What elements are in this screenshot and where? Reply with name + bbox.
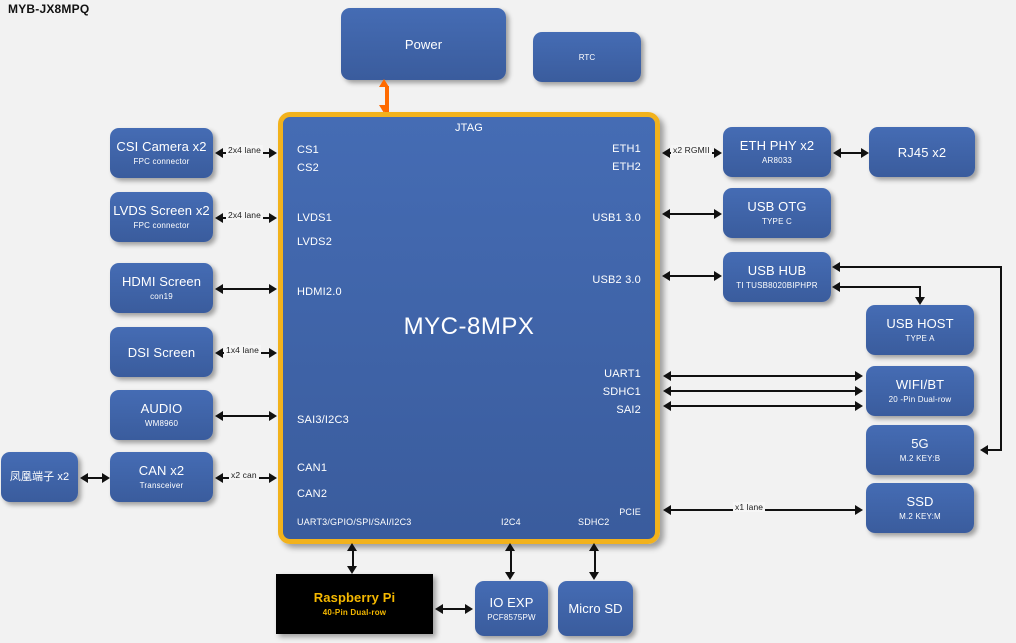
node-rtc-title: RTC (579, 50, 596, 65)
soc-myc-8mpx[interactable]: JTAG CS1 CS2 LVDS1 LVDS2 HDMI2.0 SAI3/I2… (278, 112, 660, 544)
link-usbhub-5g-v (1000, 266, 1002, 451)
link-soc-rpi-arrow-up (347, 543, 357, 551)
link-audio-soc-arrow-left (215, 411, 223, 421)
node-usb-otg-subtitle: TYPE C (762, 216, 792, 227)
node-usb-otg[interactable]: USB OTG TYPE C (723, 188, 831, 238)
link-dsi-soc-arrow-right (269, 348, 277, 358)
node-raspberry-pi-subtitle: 40-Pin Dual-row (323, 607, 386, 618)
node-rtc[interactable]: RTC (533, 32, 641, 82)
node-csi-camera-subtitle: FPC connector (134, 156, 190, 167)
node-rj45[interactable]: RJ45 x2 (869, 127, 975, 177)
link-ethphy-rj45 (839, 152, 863, 154)
link-can-soc-arrow-right (269, 473, 277, 483)
link-uart1-wifibt-arrow-left (663, 371, 671, 381)
node-wifi-bt-title: WIFI/BT (896, 377, 944, 392)
node-csi-camera[interactable]: CSI Camera x2 FPC connector (110, 128, 213, 178)
soc-pin-pcie: PCIE (619, 507, 641, 517)
edge-label-rgmii: x2 RGMII (671, 145, 712, 155)
link-rpi-ioexp-arrow-left (435, 604, 443, 614)
node-micro-sd[interactable]: Micro SD (558, 581, 633, 636)
edge-label-pcie-lane: x1 lane (733, 502, 765, 512)
soc-pin-hdmi: HDMI2.0 (297, 286, 342, 298)
link-soc-ethphy-arrow-left (662, 148, 670, 158)
soc-pin-sai2: SAI2 (616, 404, 641, 416)
node-raspberry-pi-title: Raspberry Pi (314, 590, 395, 605)
node-ssd-title: SSD (906, 494, 933, 509)
soc-pin-cs2: CS2 (297, 162, 319, 174)
node-micro-sd-title: Micro SD (568, 601, 622, 616)
link-phoenix-can-arrow-right (102, 473, 110, 483)
node-usb-host-subtitle: TYPE A (905, 333, 934, 344)
page-title: MYB-JX8MPQ (8, 2, 89, 16)
link-uart1-wifibt-arrow-right (855, 371, 863, 381)
link-ethphy-rj45-arrow-left (833, 148, 841, 158)
link-soc-usbotg-arrow-right (714, 209, 722, 219)
link-soc-ethphy-arrow-right (714, 148, 722, 158)
link-sai2-wifibt-arrow-left (663, 401, 671, 411)
node-5g-title: 5G (911, 436, 929, 451)
link-pcie-ssd-arrow-right (855, 505, 863, 515)
soc-pin-lvds2: LVDS2 (297, 236, 332, 248)
node-can-subtitle: Transceiver (140, 480, 184, 491)
link-soc-usbhub-arrow-left (662, 271, 670, 281)
link-sdhc1-wifibt (669, 390, 857, 392)
node-lvds-screen-title: LVDS Screen x2 (113, 203, 210, 218)
edge-label-can-bus: x2 can (229, 470, 259, 480)
link-sai2-wifibt-arrow-right (855, 401, 863, 411)
link-soc-ioexp-arrow-up (505, 543, 515, 551)
link-sdhc1-wifibt-arrow-left (663, 386, 671, 396)
node-lvds-screen[interactable]: LVDS Screen x2 FPC connector (110, 192, 213, 242)
edge-label-csi-lane: 2x4 lane (226, 145, 263, 155)
soc-pin-sdhc2: SDHC2 (578, 517, 610, 527)
link-soc-ioexp-arrow-down (505, 572, 515, 580)
soc-pin-usb2: USB2 3.0 (592, 274, 641, 286)
link-csi-soc-arrow-left (215, 148, 223, 158)
soc-pin-sdhc1: SDHC1 (603, 386, 641, 398)
link-csi-soc-arrow-right (269, 148, 277, 158)
node-can-title: CAN x2 (139, 463, 184, 478)
diagram-canvas: MYB-JX8MPQ Power RTC JTAG CS1 CS2 LVDS1 … (0, 0, 1016, 643)
node-5g-subtitle: M.2 KEY:B (900, 453, 940, 464)
node-hdmi-screen-title: HDMI Screen (122, 274, 201, 289)
node-eth-phy-subtitle: AR8033 (762, 155, 792, 166)
link-sdhc1-wifibt-arrow-right (855, 386, 863, 396)
node-power[interactable]: Power (341, 8, 506, 80)
link-uart1-wifibt (669, 375, 857, 377)
link-power-soc-arrow-up (379, 79, 389, 87)
link-usbhub-usbhost-arrow-left (832, 282, 840, 292)
link-dsi-soc-arrow-left (215, 348, 223, 358)
node-ssd-subtitle: M.2 KEY:M (899, 511, 941, 522)
node-dsi-screen-title: DSI Screen (128, 345, 195, 360)
node-audio-title: AUDIO (141, 401, 183, 416)
link-hdmi-soc (221, 288, 271, 290)
link-usbhub-usbhost-arrow-down (915, 297, 925, 305)
link-soc-microsd-arrow-down (589, 572, 599, 580)
link-ethphy-rj45-arrow-right (861, 148, 869, 158)
link-lvds-soc-arrow-right (269, 213, 277, 223)
node-eth-phy[interactable]: ETH PHY x2 AR8033 (723, 127, 831, 177)
link-soc-usbotg (668, 213, 716, 215)
link-soc-usbhub (668, 275, 716, 277)
soc-pin-can1: CAN1 (297, 462, 327, 474)
node-rj45-title: RJ45 x2 (898, 145, 946, 160)
link-hdmi-soc-arrow-left (215, 284, 223, 294)
link-usbhub-5g-h-top (838, 266, 1002, 268)
soc-pin-eth2: ETH2 (612, 161, 641, 173)
link-soc-rpi-arrow-down (347, 566, 357, 574)
link-audio-soc (221, 415, 271, 417)
link-can-soc-arrow-left (215, 473, 223, 483)
soc-pin-i2c4: I2C4 (501, 517, 521, 527)
node-io-exp-subtitle: PCF8575PW (487, 612, 535, 623)
link-usbhub-5g-arrow-into-5g (980, 445, 988, 455)
node-raspberry-pi[interactable]: Raspberry Pi 40-Pin Dual-row (276, 574, 433, 634)
node-usb-hub[interactable]: USB HUB TI TUSB8020BIPHPR (723, 252, 831, 302)
node-eth-phy-title: ETH PHY x2 (740, 138, 814, 153)
link-usbhub-5g-h-bottom (986, 449, 1002, 451)
link-hdmi-soc-arrow-right (269, 284, 277, 294)
node-5g[interactable]: 5G M.2 KEY:B (866, 425, 974, 475)
node-dsi-screen[interactable]: DSI Screen (110, 327, 213, 377)
node-lvds-screen-subtitle: FPC connector (134, 220, 190, 231)
link-rpi-ioexp (441, 608, 467, 610)
soc-title: MYC-8MPX (283, 313, 655, 341)
link-soc-usbotg-arrow-left (662, 209, 670, 219)
node-phoenix-terminal-title: 凤凰端子 x2 (10, 470, 69, 485)
node-wifi-bt[interactable]: WIFI/BT 20 -Pin Dual-row (866, 366, 974, 416)
soc-pin-uart1: UART1 (604, 368, 641, 380)
link-usbhub-usbhost-h (838, 286, 920, 288)
node-usb-otg-title: USB OTG (747, 199, 806, 214)
soc-pin-usb1: USB1 3.0 (592, 212, 641, 224)
link-audio-soc-arrow-right (269, 411, 277, 421)
node-csi-camera-title: CSI Camera x2 (116, 139, 206, 154)
node-phoenix-terminal[interactable]: 凤凰端子 x2 (1, 452, 78, 502)
link-soc-microsd-arrow-up (589, 543, 599, 551)
node-usb-hub-title: USB HUB (748, 263, 807, 278)
soc-pin-sai3: SAI3/I2C3 (297, 414, 349, 426)
node-io-exp[interactable]: IO EXP PCF8575PW (475, 581, 548, 636)
link-phoenix-can-arrow-left (80, 473, 88, 483)
node-power-title: Power (405, 37, 442, 52)
node-can[interactable]: CAN x2 Transceiver (110, 452, 213, 502)
link-usbhub-5g-arrow-left (832, 262, 840, 272)
node-audio-subtitle: WM8960 (145, 418, 178, 429)
soc-pin-jtag: JTAG (283, 122, 655, 134)
soc-pin-uart3: UART3/GPIO/SPI/SAI/I2C3 (297, 517, 411, 527)
soc-pin-eth1: ETH1 (612, 143, 641, 155)
soc-pin-cs1: CS1 (297, 144, 319, 156)
link-soc-usbhub-arrow-right (714, 271, 722, 281)
link-sai2-wifibt (669, 405, 857, 407)
node-audio[interactable]: AUDIO WM8960 (110, 390, 213, 440)
node-ssd[interactable]: SSD M.2 KEY:M (866, 483, 974, 533)
link-lvds-soc-arrow-left (215, 213, 223, 223)
node-usb-host-title: USB HOST (886, 316, 953, 331)
node-io-exp-title: IO EXP (490, 595, 534, 610)
soc-pin-can2: CAN2 (297, 488, 327, 500)
edge-label-dsi-lane: 1x4 lane (224, 345, 261, 355)
node-wifi-bt-subtitle: 20 -Pin Dual-row (889, 394, 952, 405)
soc-pin-lvds1: LVDS1 (297, 212, 332, 224)
node-usb-hub-subtitle: TI TUSB8020BIPHPR (736, 280, 818, 291)
node-hdmi-screen-subtitle: con19 (150, 291, 173, 302)
node-hdmi-screen[interactable]: HDMI Screen con19 (110, 263, 213, 313)
link-pcie-ssd-arrow-left (663, 505, 671, 515)
link-rpi-ioexp-arrow-right (465, 604, 473, 614)
edge-label-lvds-lane: 2x4 lane (226, 210, 263, 220)
node-usb-host[interactable]: USB HOST TYPE A (866, 305, 974, 355)
